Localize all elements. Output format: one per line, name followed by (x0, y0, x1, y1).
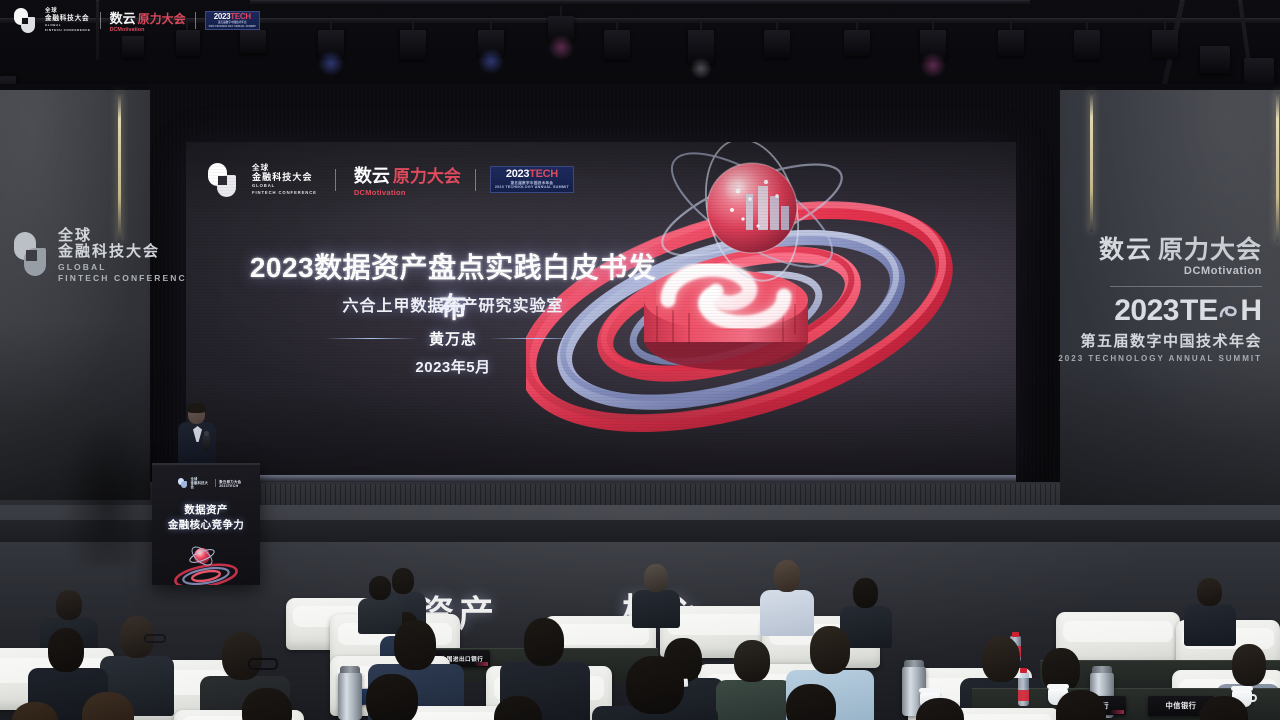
wall-light-strip (1276, 92, 1279, 242)
right-wall-year: 2023 (1114, 294, 1179, 328)
watermark-dc-cn-a: 数云 (110, 8, 136, 27)
watermark-en2: FINTECH CONFERENCE (45, 29, 91, 32)
stage-light (122, 36, 144, 58)
podium-logo-cn2: 金融科技大会 (191, 481, 211, 489)
podium-logo-cn3: 数云原力大会 2023TECH (219, 479, 260, 488)
attendee-head (242, 688, 292, 720)
right-wall-tech-left: TE (1180, 294, 1218, 328)
attendee-head (12, 702, 58, 720)
conference-photo-scene: 全球 金融科技大会 GLOBAL FINTECH CONFERENCE 数云 原… (0, 0, 1280, 720)
attendee-head (394, 620, 436, 670)
attendee-head (48, 628, 84, 672)
stage-light (240, 30, 266, 54)
stage-light (400, 30, 426, 60)
seated-audience: 中国进出口银行 (0, 520, 1280, 720)
left-wall-brand: 全球 金融科技大会 GLOBAL FINTECH CONFERENCE (14, 228, 195, 283)
eyeglasses-icon (144, 634, 166, 643)
stage-light (844, 30, 870, 56)
fintech-logo-mark (14, 8, 36, 33)
left-wall-en-line1: GLOBAL (58, 263, 195, 272)
stage-light (764, 30, 790, 58)
attendee-head (366, 674, 418, 720)
attendee-head (626, 656, 684, 714)
watermark-badge-sub-en: 2023 TECHNOLOGY ANNUAL SUMMIT (209, 26, 256, 29)
left-wall-en-line2: FINTECH CONFERENCE (58, 274, 195, 283)
attendee-head (644, 564, 668, 592)
attendee-head (1200, 696, 1248, 720)
attendee-torso (1184, 604, 1236, 646)
stage-light (318, 30, 344, 58)
screen-scanlines (186, 142, 1016, 482)
right-wall-en-sub: DCMotivation (1058, 265, 1262, 277)
watermark-en1: GLOBAL (45, 24, 91, 27)
watermark-cn1: 全球 (45, 9, 91, 15)
stage-light (1074, 30, 1100, 60)
attendee (632, 564, 680, 626)
attendee-head (494, 696, 542, 720)
stage-led-screen: 全球 金融科技大会 GLOBAL FINTECH CONFERENCE 数云 原… (186, 142, 1016, 482)
attendee-head (56, 590, 82, 620)
stage-light (548, 16, 574, 42)
attendee-head (82, 692, 134, 720)
attendee (760, 560, 814, 634)
right-wall-cn-a: 数云 (1099, 230, 1153, 266)
watermark-badge-year: 2023 (214, 12, 231, 21)
watermark-dc-cn-b: 原力大会 (138, 10, 186, 27)
attendee (0, 702, 86, 720)
attendee (890, 698, 992, 720)
fintech-logo-mark (14, 232, 48, 278)
attendee-head (786, 684, 836, 720)
stage-light (478, 30, 504, 56)
left-wall-cn-line1: 全球 (58, 228, 195, 244)
attendee (1028, 690, 1138, 720)
presenter-hair (187, 403, 206, 413)
attendee-head (810, 626, 850, 674)
attendee (336, 674, 448, 720)
left-wall-cn-line2: 金融科技大会 (58, 244, 195, 260)
attendee (592, 656, 718, 720)
divider (1110, 286, 1262, 287)
wall-light-strip (1090, 92, 1093, 232)
swirl-icon (1218, 300, 1240, 322)
attendee-head (734, 640, 770, 682)
attendee-head (1056, 690, 1106, 720)
broadcast-watermark: 全球 金融科技大会 GLOBAL FINTECH CONFERENCE 数云 原… (14, 8, 260, 33)
truss-bar (250, 0, 1030, 4)
attendee-head (982, 636, 1020, 682)
right-wall-cn-b: 原力大会 (1158, 230, 1262, 266)
watermark-tech-badge: 2023TECH 第五届数字中国技术年会 2023 TECHNOLOGY ANN… (205, 11, 260, 31)
attendee-head (853, 578, 878, 608)
attendee-head (369, 576, 391, 600)
attendee-head (222, 632, 262, 680)
attendee (1176, 696, 1280, 720)
presenter-at-podium (176, 404, 220, 468)
divider (100, 12, 101, 29)
stage-light (176, 30, 200, 56)
attendee (216, 688, 322, 720)
watermark-dc-sub: DCMotivation (110, 27, 186, 33)
attendee (1184, 578, 1236, 644)
attendee-head (774, 560, 800, 592)
stage-light (1200, 46, 1230, 74)
attendee-head (524, 618, 564, 666)
stage-light (998, 30, 1024, 56)
right-wall-en-line2: 2023 TECHNOLOGY ANNUAL SUMMIT (1058, 354, 1262, 363)
attendee-torso (632, 590, 680, 628)
right-wall-cn-line2: 第五届数字中国技术年会 (1058, 330, 1262, 351)
right-wall-tech-right: H (1240, 294, 1262, 328)
attendee (760, 684, 866, 720)
stage-light (920, 30, 946, 60)
stage-light (688, 30, 714, 64)
right-wall-brand: 数云 原力大会 DCMotivation 2023 TE H 第五届数字中国技术… (1058, 230, 1262, 363)
attendee (470, 696, 570, 720)
microphone-icon (203, 434, 210, 451)
attendee-head (1197, 578, 1222, 606)
screen-base-edge (186, 475, 1016, 482)
attendee-head (916, 698, 964, 720)
watermark-cn2: 金融科技大会 (45, 16, 91, 23)
attendee-head (1232, 644, 1266, 686)
stage-light (1152, 30, 1178, 58)
stage-light (604, 30, 630, 60)
wall-light-strip (118, 92, 121, 242)
fintech-logo-mark (178, 478, 187, 488)
watermark-badge-tech: TECH (230, 12, 251, 21)
eyeglasses-icon (248, 658, 278, 670)
podium-logo-bar: 全球 金融科技大会 数云原力大会 2023TECH (178, 477, 260, 489)
divider (195, 12, 196, 29)
podium-title-line1: 数据资产 (152, 503, 260, 518)
